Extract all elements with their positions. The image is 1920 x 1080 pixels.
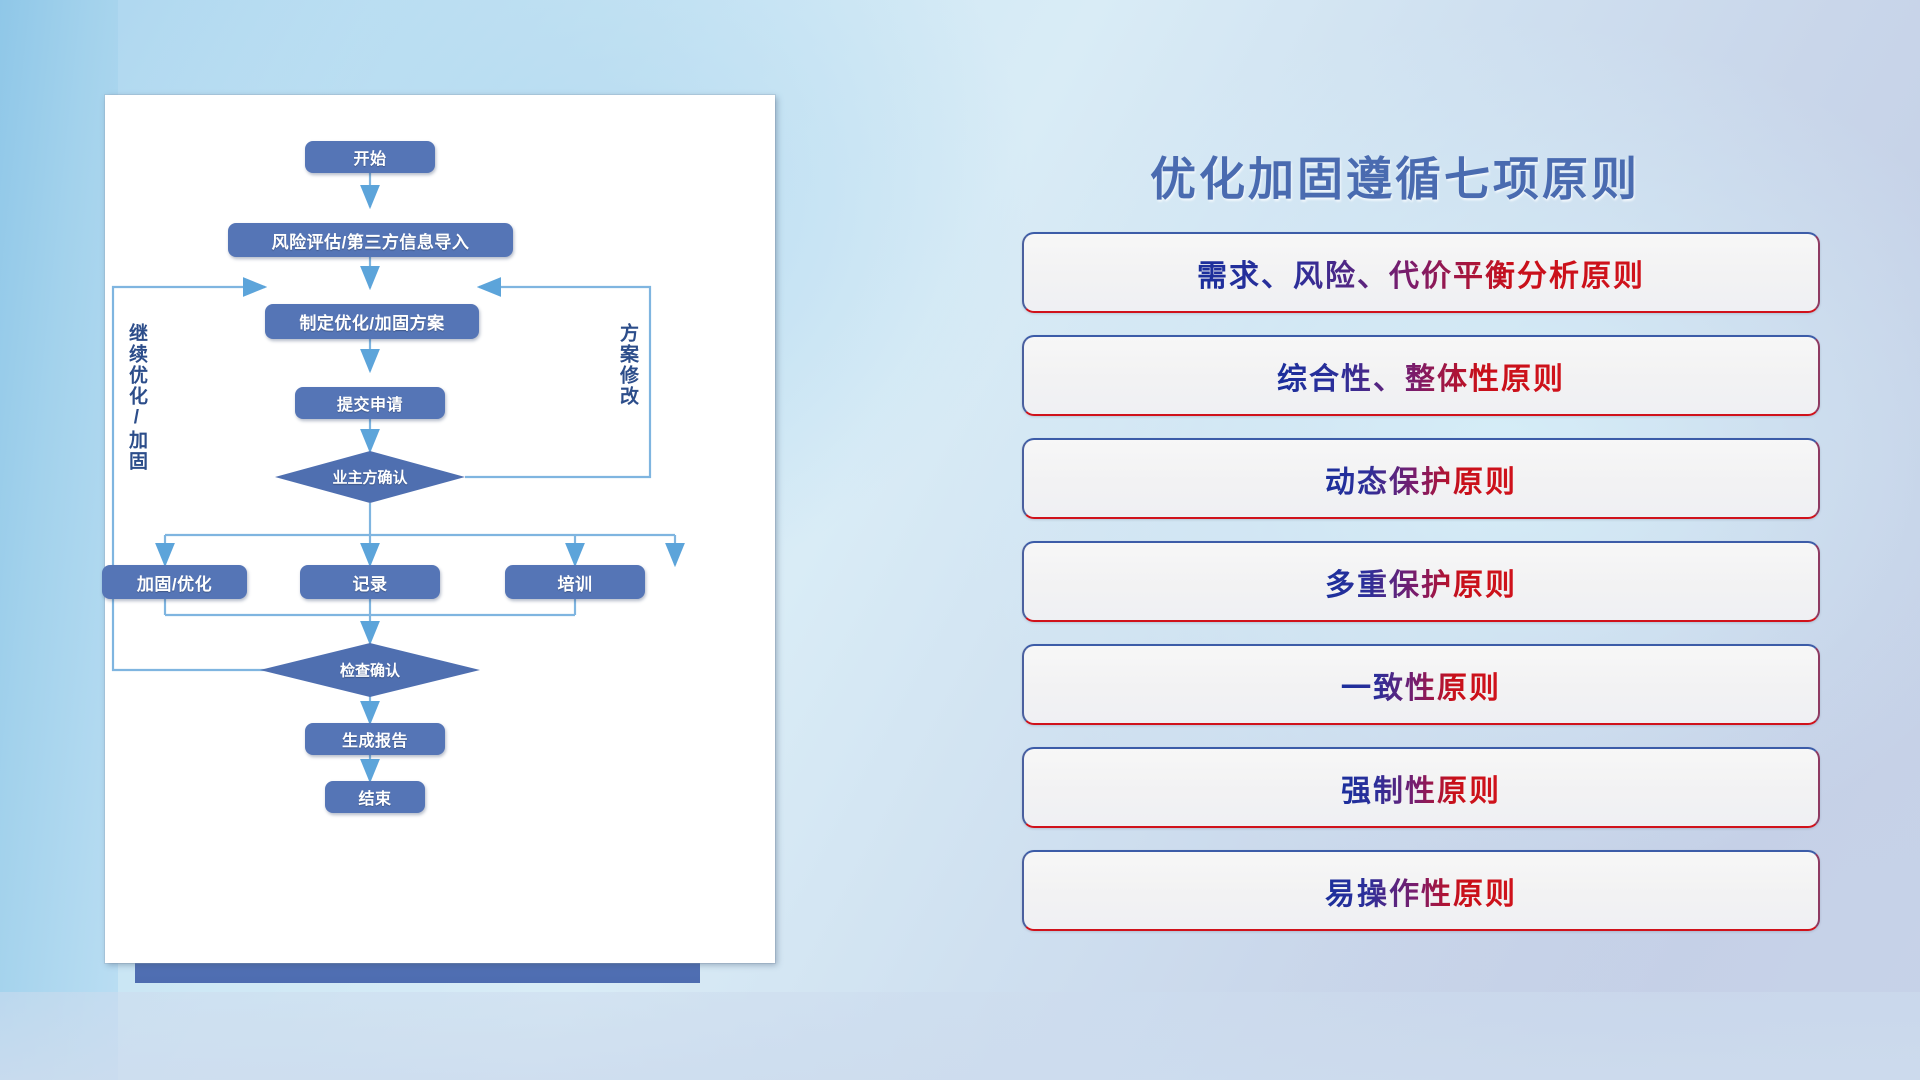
flow-node-reinforce[interactable]: 加固/优化 [102, 565, 247, 599]
flow-node-risk-assessment-label: 风险评估/第三方信息导入 [272, 228, 470, 253]
principle-card[interactable]: 动态保护原则 [1022, 438, 1820, 519]
flow-node-end[interactable]: 结束 [325, 781, 425, 813]
principle-list: 需求、风险、代价平衡分析原则 综合性、整体性原则 动态保护原则 多重保护原则 一… [1022, 232, 1820, 953]
flow-node-end-label: 结束 [358, 785, 391, 809]
flow-node-reinforce-label: 加固/优化 [137, 570, 212, 595]
flow-node-submit[interactable]: 提交申请 [295, 387, 445, 419]
flow-node-final-check-label: 检查确认 [340, 660, 400, 681]
slide-canvas: 开始 风险评估/第三方信息导入 制定优化/加固方案 提交申请 加固/优化 记录 … [0, 0, 1920, 1080]
edge-label-plan-revision: 方案修改 [617, 323, 637, 407]
principle-label: 综合性、整体性原则 [1277, 354, 1565, 398]
flow-node-risk-assessment[interactable]: 风险评估/第三方信息导入 [228, 223, 513, 257]
principle-label: 多重保护原则 [1325, 560, 1517, 604]
principle-label: 一致性原则 [1341, 663, 1501, 707]
principle-card[interactable]: 综合性、整体性原则 [1022, 335, 1820, 416]
flow-node-start-label: 开始 [353, 145, 386, 169]
edge-label-continue-optimize: 继续优化/加固 [126, 323, 146, 472]
flow-node-plan[interactable]: 制定优化/加固方案 [265, 304, 479, 339]
principle-label: 强制性原则 [1341, 766, 1501, 810]
flow-node-submit-label: 提交申请 [337, 391, 403, 415]
principle-card[interactable]: 易操作性原则 [1022, 850, 1820, 931]
principle-label: 易操作性原则 [1325, 869, 1517, 913]
flow-node-owner-confirm-label: 业主方确认 [332, 467, 407, 488]
flow-node-report[interactable]: 生成报告 [305, 723, 445, 755]
flow-node-record[interactable]: 记录 [300, 565, 440, 599]
principle-card[interactable]: 一致性原则 [1022, 644, 1820, 725]
principle-label: 动态保护原则 [1325, 457, 1517, 501]
flow-node-training-label: 培训 [558, 570, 593, 595]
flow-node-record-label: 记录 [353, 570, 388, 595]
principle-card[interactable]: 多重保护原则 [1022, 541, 1820, 622]
flow-node-plan-label: 制定优化/加固方案 [299, 309, 444, 334]
flow-node-report-label: 生成报告 [342, 727, 408, 751]
flow-node-start[interactable]: 开始 [305, 141, 435, 173]
flow-node-training[interactable]: 培训 [505, 565, 645, 599]
right-panel-title: 优化加固遵循七项原则 [1150, 143, 1640, 209]
principle-card[interactable]: 需求、风险、代价平衡分析原则 [1022, 232, 1820, 313]
principle-card[interactable]: 强制性原则 [1022, 747, 1820, 828]
principle-label: 需求、风险、代价平衡分析原则 [1197, 251, 1645, 295]
flowchart-card: 开始 风险评估/第三方信息导入 制定优化/加固方案 提交申请 加固/优化 记录 … [105, 95, 775, 963]
